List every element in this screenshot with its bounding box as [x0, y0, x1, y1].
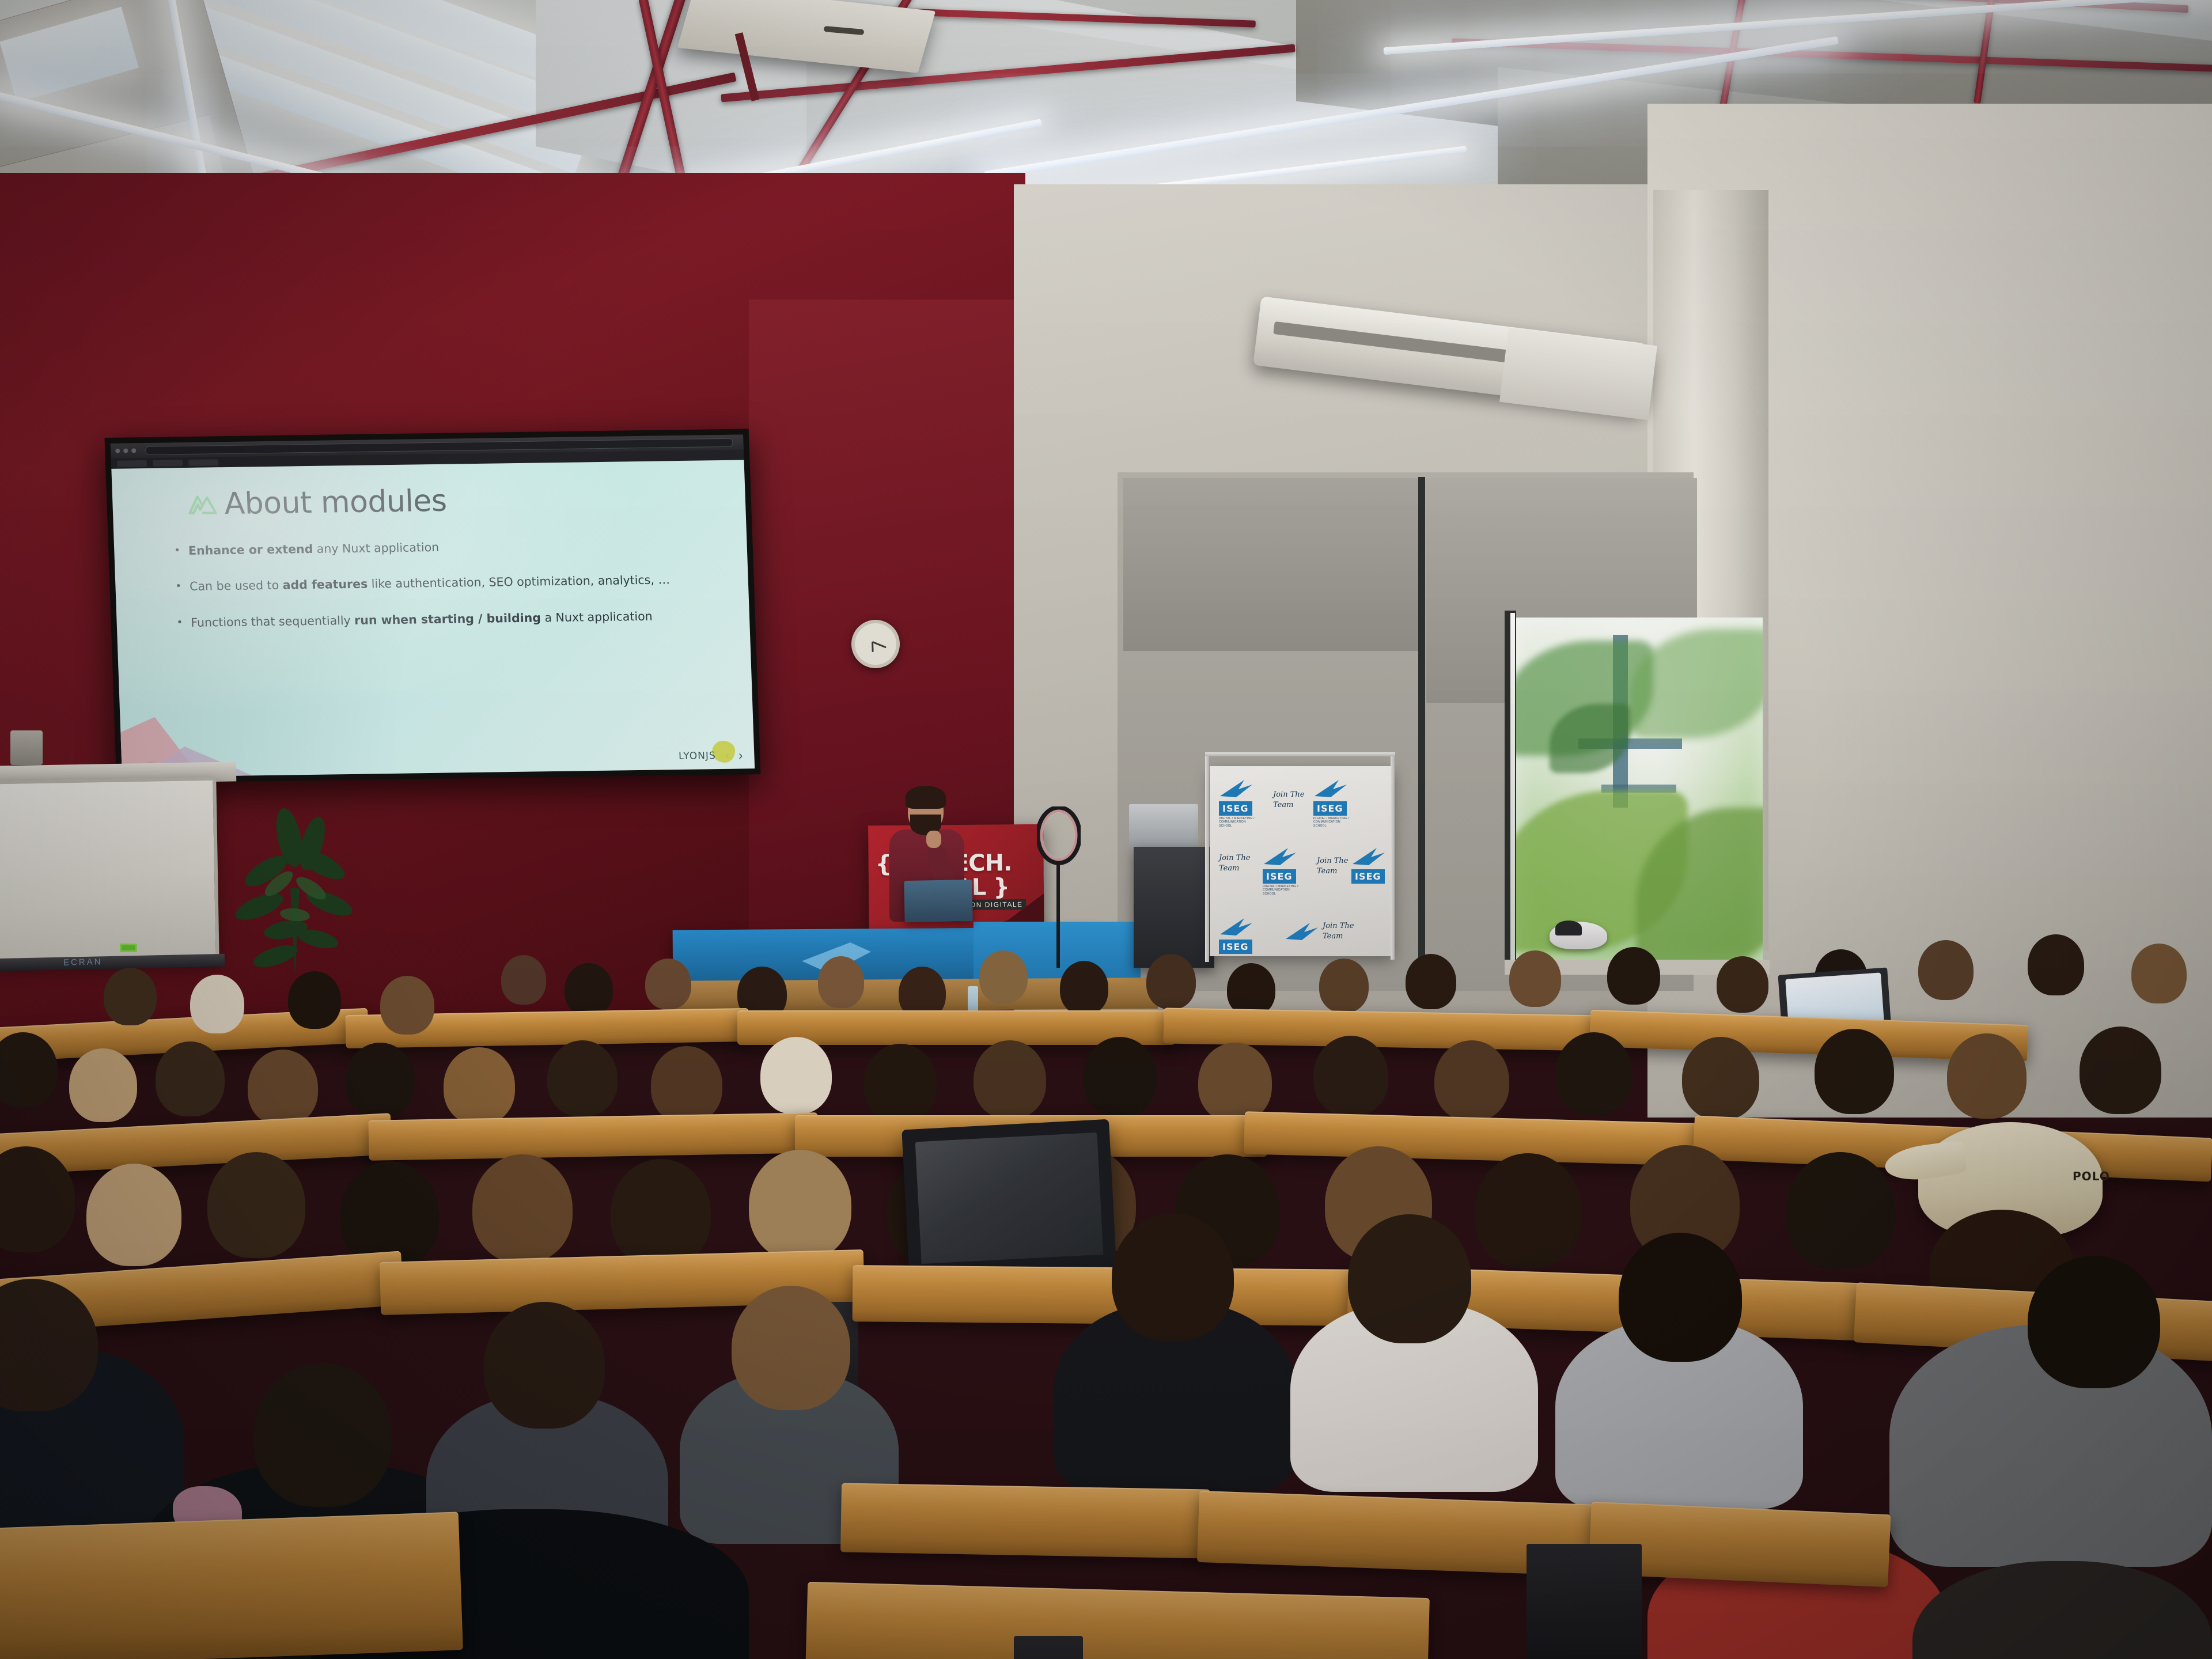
audience-head — [611, 1159, 711, 1267]
audience-head — [1918, 940, 1974, 1000]
bullet-marker: • — [175, 578, 182, 594]
iseg-logo-label: ISEG — [1313, 801, 1347, 816]
audience-head — [565, 963, 613, 1016]
iseg-slogan: Join The Team — [1219, 854, 1250, 873]
bullet-text: Can be used to add features like authent… — [190, 572, 671, 595]
audience-head — [749, 1150, 851, 1260]
audience-head — [1947, 1033, 2027, 1119]
audience-head — [1682, 1037, 1759, 1120]
bullet-pre: Can be used to — [190, 578, 283, 593]
iseg-swoosh-icon — [1219, 779, 1253, 798]
banner-crossbar — [1205, 752, 1395, 756]
ring-light-icon — [1037, 806, 1081, 870]
bookmark-item[interactable] — [153, 460, 183, 467]
list-item: • Can be used to add features like authe… — [175, 571, 719, 594]
window-maximize-icon[interactable] — [131, 448, 136, 453]
cap-brand-label: POLO — [2073, 1169, 2110, 1183]
bullet-emphasis: Enhance or extend — [188, 542, 313, 558]
iseg-logo-sub: DIGITAL / MARKETING / COMMUNICATION SCHO… — [1219, 817, 1259, 828]
bullet-text: Functions that sequentially run when sta… — [191, 608, 653, 630]
conference-room-photo: About modules • Enhance or extend any Nu… — [0, 0, 2212, 1659]
page-title: About modules — [224, 484, 448, 521]
window-close-icon[interactable] — [115, 449, 120, 453]
audience-head — [1083, 1037, 1157, 1116]
audience-head — [248, 1050, 318, 1126]
lyonjs-logo: LYONJS — [679, 750, 716, 762]
iseg-logo-label: ISEG — [1351, 869, 1385, 884]
presenter-hand — [926, 831, 941, 848]
nuxt-mountain-icon — [187, 493, 217, 516]
wall-clock-icon — [851, 620, 900, 668]
audience-head — [818, 956, 864, 1008]
audience-head — [760, 1037, 832, 1114]
audience-head — [1198, 1043, 1272, 1122]
audience-head — [484, 1302, 605, 1429]
bench-row — [1244, 1111, 1717, 1166]
audience-head — [472, 1154, 573, 1263]
audience-head — [651, 1046, 722, 1123]
bullet-emphasis: add features — [282, 577, 368, 592]
browser-window: About modules • Enhance or extend any Nu… — [111, 435, 755, 778]
audience-head — [1786, 1152, 1895, 1270]
bullet-marker: • — [176, 615, 183, 631]
audience-head — [156, 1041, 225, 1116]
bullet-text: Enhance or extend any Nuxt application — [188, 539, 440, 559]
audience-head — [190, 975, 244, 1033]
audience-head — [444, 1047, 515, 1124]
audience-head — [974, 1040, 1046, 1119]
iseg-logo-label: ISEG — [1263, 869, 1296, 884]
audience-head — [104, 968, 157, 1025]
iseg-swoosh-icon — [1263, 847, 1297, 866]
window-frame-vertical — [1418, 477, 1425, 967]
iseg-slogan: Join The Team — [1317, 857, 1348, 876]
audience-head — [207, 1152, 305, 1258]
projection-screen: About modules • Enhance or extend any Nu… — [104, 429, 760, 783]
iseg-logo-cell: ISEG DIGITAL / MARKETING / COMMUNICATION… — [1219, 779, 1259, 828]
iseg-logo-cell: ISEG DIGITAL / MARKETING / COMMUNICATION… — [1263, 847, 1303, 896]
audience-head — [1227, 963, 1275, 1016]
bullet-emphasis: run when starting / building — [354, 611, 541, 627]
audience-head — [1313, 1036, 1388, 1116]
audience-head — [979, 950, 1028, 1003]
iseg-slogan-cell: Join The Team — [1219, 853, 1259, 873]
bench-row — [840, 1483, 1210, 1558]
audience-head — [1406, 954, 1456, 1009]
clock-minute-hand — [872, 641, 887, 648]
bookmark-item[interactable] — [188, 459, 218, 466]
bullet-rest: any Nuxt application — [313, 540, 440, 556]
audience-head — [1475, 1153, 1582, 1268]
audience-head — [1815, 1029, 1894, 1114]
audience-torso — [1912, 1561, 2212, 1659]
roller-blind[interactable] — [1123, 478, 1423, 651]
bench-row — [0, 1512, 463, 1659]
bullet-pre: Functions that sequentially — [191, 613, 355, 629]
audience-head — [380, 976, 434, 1035]
audience-head — [1717, 956, 1768, 1013]
audience-head — [864, 1044, 937, 1122]
iseg-logo-sub: DIGITAL / MARKETING / COMMUNICATION SCHO… — [1313, 817, 1354, 828]
audience-head — [2028, 934, 2084, 995]
iseg-logo-cell: ISEG DIGITAL / MARKETING / COMMUNICATION… — [1313, 779, 1354, 828]
slide-bullet-list: • Enhance or extend any Nuxt application… — [174, 535, 722, 650]
window-minimize-icon[interactable] — [123, 448, 128, 453]
audience-head — [732, 1286, 850, 1410]
iseg-swoosh-icon — [1351, 847, 1386, 866]
iseg-logo-cell: ISEG — [1351, 847, 1392, 884]
audience-head — [288, 971, 341, 1029]
audience-head — [1619, 1233, 1742, 1362]
audience-head — [2131, 944, 2187, 1003]
list-item: • Functions that sequentially run when s… — [176, 607, 721, 631]
audience-head — [1060, 961, 1108, 1015]
audience-head — [1319, 959, 1369, 1013]
audience-head — [2028, 1256, 2160, 1388]
bench-row — [805, 1582, 1430, 1659]
bench-support — [1014, 1636, 1083, 1659]
audience-head — [1607, 947, 1660, 1005]
clock-hour-hand — [872, 642, 874, 652]
bench-row — [368, 1112, 818, 1161]
laptop-screen — [915, 1132, 1104, 1264]
iseg-logo-sub: DIGITAL / MARKETING / COMMUNICATION SCHO… — [1263, 885, 1303, 896]
wall-speaker-box — [10, 730, 43, 765]
audience-head — [645, 959, 691, 1009]
audience-head — [1146, 954, 1196, 1009]
audience-head — [1112, 1213, 1234, 1341]
audience-head — [253, 1363, 392, 1507]
bullet-rest: a Nuxt application — [541, 609, 653, 624]
audience-head — [346, 1043, 415, 1118]
audience-head — [1348, 1214, 1471, 1343]
chevron-right-icon[interactable]: › — [738, 748, 743, 763]
bullet-rest: like authentication, SEO optimization, a… — [368, 573, 670, 591]
audience-head — [501, 955, 546, 1005]
iseg-slogan: Join The Team — [1273, 790, 1304, 809]
iseg-slogan-cell: Join The Team — [1273, 789, 1313, 810]
iseg-swoosh-icon — [1313, 779, 1348, 798]
bookmark-item[interactable] — [117, 460, 147, 467]
audience-head — [69, 1048, 137, 1122]
bench-support — [1527, 1544, 1642, 1659]
audience-head — [1555, 1032, 1633, 1115]
audience-head — [2080, 1027, 2161, 1114]
slide-footer: LYONJS ‹ › — [679, 748, 743, 764]
presentation-slide: About modules • Enhance or extend any Nu… — [111, 460, 755, 777]
audience-head — [86, 1164, 181, 1266]
audience-head — [1434, 1040, 1509, 1121]
audience-head — [1509, 950, 1561, 1007]
list-item: • Enhance or extend any Nuxt application — [174, 535, 718, 559]
slide-title-row: About modules — [187, 484, 448, 522]
audience-head — [547, 1040, 618, 1116]
presenter-hair — [906, 786, 946, 809]
lyonjs-label: LYONJS — [679, 750, 716, 762]
iseg-logo-label: ISEG — [1219, 801, 1252, 816]
av-monitor — [1129, 804, 1198, 850]
bullet-marker: • — [174, 543, 181, 559]
